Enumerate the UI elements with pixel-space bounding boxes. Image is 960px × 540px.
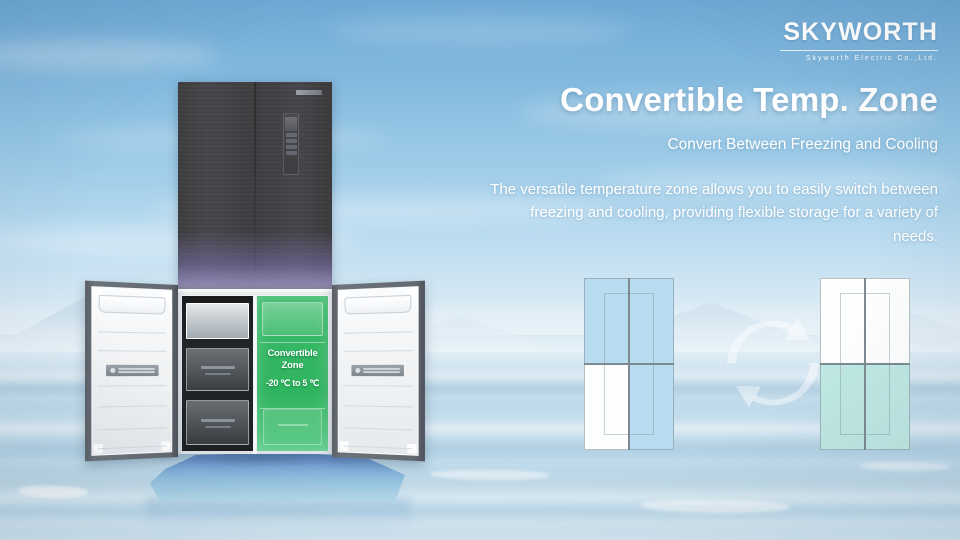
door-rib <box>98 427 167 430</box>
drawer-label <box>205 373 231 375</box>
logo-divider <box>780 50 938 51</box>
diagram-horizontal-split <box>820 363 910 365</box>
display-screen <box>285 117 297 131</box>
right-door-open[interactable] <box>332 281 425 462</box>
nameplate-text <box>118 368 154 373</box>
nameplate-icon <box>110 368 115 373</box>
door-rib <box>344 331 413 333</box>
drawer <box>186 303 249 339</box>
refrigerator-product-image: Convertible Zone -20 ℃ to 5 ℃ <box>84 82 426 470</box>
door-shelf <box>99 295 166 315</box>
diagram-horizontal-split <box>584 363 674 365</box>
door-rib <box>98 385 167 387</box>
door-rib <box>98 445 167 449</box>
cloud-wisp <box>330 18 630 44</box>
logo-wordmark: SKYWORTH <box>738 20 938 45</box>
brand-logo: SKYWORTH Skyworth Electric Co.,Ltd. <box>738 20 938 62</box>
control-button[interactable] <box>286 139 297 143</box>
control-button[interactable] <box>286 151 297 155</box>
door-rib <box>98 405 167 407</box>
drawer-label <box>201 419 235 422</box>
nameplate-bar <box>118 371 154 373</box>
nameplate-icon <box>355 368 360 373</box>
zone-label-line1: Convertible <box>257 348 328 360</box>
nameplate-text <box>363 368 400 373</box>
control-button[interactable] <box>286 133 297 137</box>
left-door-open[interactable] <box>85 281 178 462</box>
door-rib <box>344 445 413 449</box>
door-nameplate <box>351 365 404 376</box>
snow-streak <box>0 520 960 527</box>
door-shelf <box>345 295 412 315</box>
door-rib <box>344 385 413 387</box>
drawer-label <box>205 426 231 428</box>
diagram-freezing-configuration <box>584 278 674 450</box>
control-panel[interactable] <box>283 113 299 175</box>
zone-temperature-range: -20 ℃ to 5 ℃ <box>257 378 328 389</box>
drawer-label <box>201 366 235 369</box>
door-rib <box>98 350 167 352</box>
door-seam <box>254 82 256 289</box>
lower-cabinet: Convertible Zone -20 ℃ to 5 ℃ <box>178 289 332 454</box>
subheading: Convert Between Freezing and Cooling <box>483 135 938 155</box>
diagram-cooling-configuration <box>820 278 910 450</box>
convertible-zone-callout: Convertible Zone -20 ℃ to 5 ℃ <box>257 348 328 389</box>
nameplate-bar <box>363 368 400 370</box>
brand-badge <box>296 90 322 95</box>
door-liner <box>338 286 419 456</box>
door-liner <box>91 286 172 456</box>
drawer <box>186 400 249 445</box>
nameplate-bar <box>363 371 400 373</box>
door-rib <box>344 350 413 352</box>
left-compartment-drawers <box>182 296 253 451</box>
page-title: Convertible Temp. Zone <box>483 82 938 119</box>
iceberg-reflection <box>146 498 411 528</box>
upper-doors <box>178 82 332 289</box>
door-nameplate <box>106 365 159 376</box>
snow-streak <box>0 492 960 504</box>
door-rib <box>344 405 413 407</box>
nameplate-bar <box>118 368 154 370</box>
zone-bin-label <box>278 424 308 426</box>
control-button[interactable] <box>286 145 297 149</box>
zone-bin <box>263 409 322 445</box>
logo-subtitle: Skyworth Electric Co.,Ltd. <box>738 55 938 62</box>
convertible-zone-compartment: Convertible Zone -20 ℃ to 5 ℃ <box>257 296 328 451</box>
marketing-copy-block: Convertible Temp. Zone Convert Between F… <box>483 82 938 248</box>
circular-swap-arrows-icon <box>718 308 828 418</box>
configuration-diagram-group <box>570 268 954 460</box>
body-paragraph: The versatile temperature zone allows yo… <box>483 178 938 248</box>
drawer <box>186 348 249 391</box>
door-rib <box>344 427 413 430</box>
zone-shelf <box>262 302 323 336</box>
door-rib <box>98 331 167 333</box>
zone-divider <box>260 342 325 343</box>
zone-label-line2: Zone <box>257 360 328 372</box>
